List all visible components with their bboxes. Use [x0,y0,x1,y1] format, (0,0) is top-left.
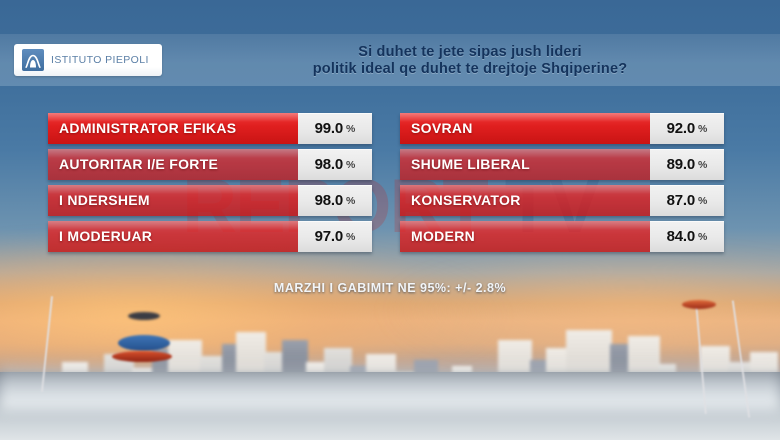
percent-box: 99.0 % [298,113,372,144]
percent-value: 99.0 [315,120,343,137]
results-column-right: SOVRAN 92.0 % SHUME LIBERAL 89.0 % [400,113,724,257]
percent-box: 92.0 % [650,113,724,144]
percent-symbol: % [698,195,707,207]
bar-label: I NDERSHEM [59,185,150,216]
percent-symbol: % [346,159,355,171]
result-row[interactable]: ADMINISTRATOR EFIKAS 99.0 % [48,113,372,144]
bar-label: MODERN [411,221,475,252]
percent-value: 87.0 [667,192,695,209]
bar-track: KONSERVATOR 87.0 % [400,185,724,216]
result-row[interactable]: SOVRAN 92.0 % [400,113,724,144]
broadcast-poll-graphic: ISTITUTO PIEPOLI Si duhet te jete sipas … [0,0,780,440]
percent-box: 98.0 % [298,185,372,216]
bar-label: ADMINISTRATOR EFIKAS [59,113,236,144]
bar-label: I MODERUAR [59,221,152,252]
poll-results: ADMINISTRATOR EFIKAS 99.0 % AUTORITAR I/… [0,0,780,440]
result-row[interactable]: KONSERVATOR 87.0 % [400,185,724,216]
percent-value: 89.0 [667,156,695,173]
result-row[interactable]: MODERN 84.0 % [400,221,724,252]
percent-symbol: % [346,231,355,243]
result-row[interactable]: AUTORITAR I/E FORTE 98.0 % [48,149,372,180]
percent-value: 97.0 [315,228,343,245]
percent-box: 87.0 % [650,185,724,216]
bar-label: AUTORITAR I/E FORTE [59,149,218,180]
percent-symbol: % [698,231,707,243]
bar-track: AUTORITAR I/E FORTE 98.0 % [48,149,372,180]
percent-symbol: % [698,123,707,135]
result-row[interactable]: I MODERUAR 97.0 % [48,221,372,252]
bar-label: KONSERVATOR [411,185,521,216]
result-row[interactable]: SHUME LIBERAL 89.0 % [400,149,724,180]
bar-track: MODERN 84.0 % [400,221,724,252]
bar-label: SHUME LIBERAL [411,149,530,180]
result-row[interactable]: I NDERSHEM 98.0 % [48,185,372,216]
margin-of-error-note: MARZHI I GABIMIT NE 95%: +/- 2.8% [0,281,780,295]
results-column-left: ADMINISTRATOR EFIKAS 99.0 % AUTORITAR I/… [48,113,372,257]
percent-symbol: % [346,123,355,135]
percent-symbol: % [346,195,355,207]
bar-track: SOVRAN 92.0 % [400,113,724,144]
percent-box: 89.0 % [650,149,724,180]
bar-label: SOVRAN [411,113,473,144]
percent-value: 98.0 [315,156,343,173]
percent-box: 97.0 % [298,221,372,252]
percent-value: 98.0 [315,192,343,209]
percent-value: 84.0 [667,228,695,245]
percent-box: 98.0 % [298,149,372,180]
bar-track: SHUME LIBERAL 89.0 % [400,149,724,180]
bar-track: I MODERUAR 97.0 % [48,221,372,252]
percent-value: 92.0 [667,120,695,137]
bar-track: ADMINISTRATOR EFIKAS 99.0 % [48,113,372,144]
bar-track: I NDERSHEM 98.0 % [48,185,372,216]
percent-box: 84.0 % [650,221,724,252]
percent-symbol: % [698,159,707,171]
